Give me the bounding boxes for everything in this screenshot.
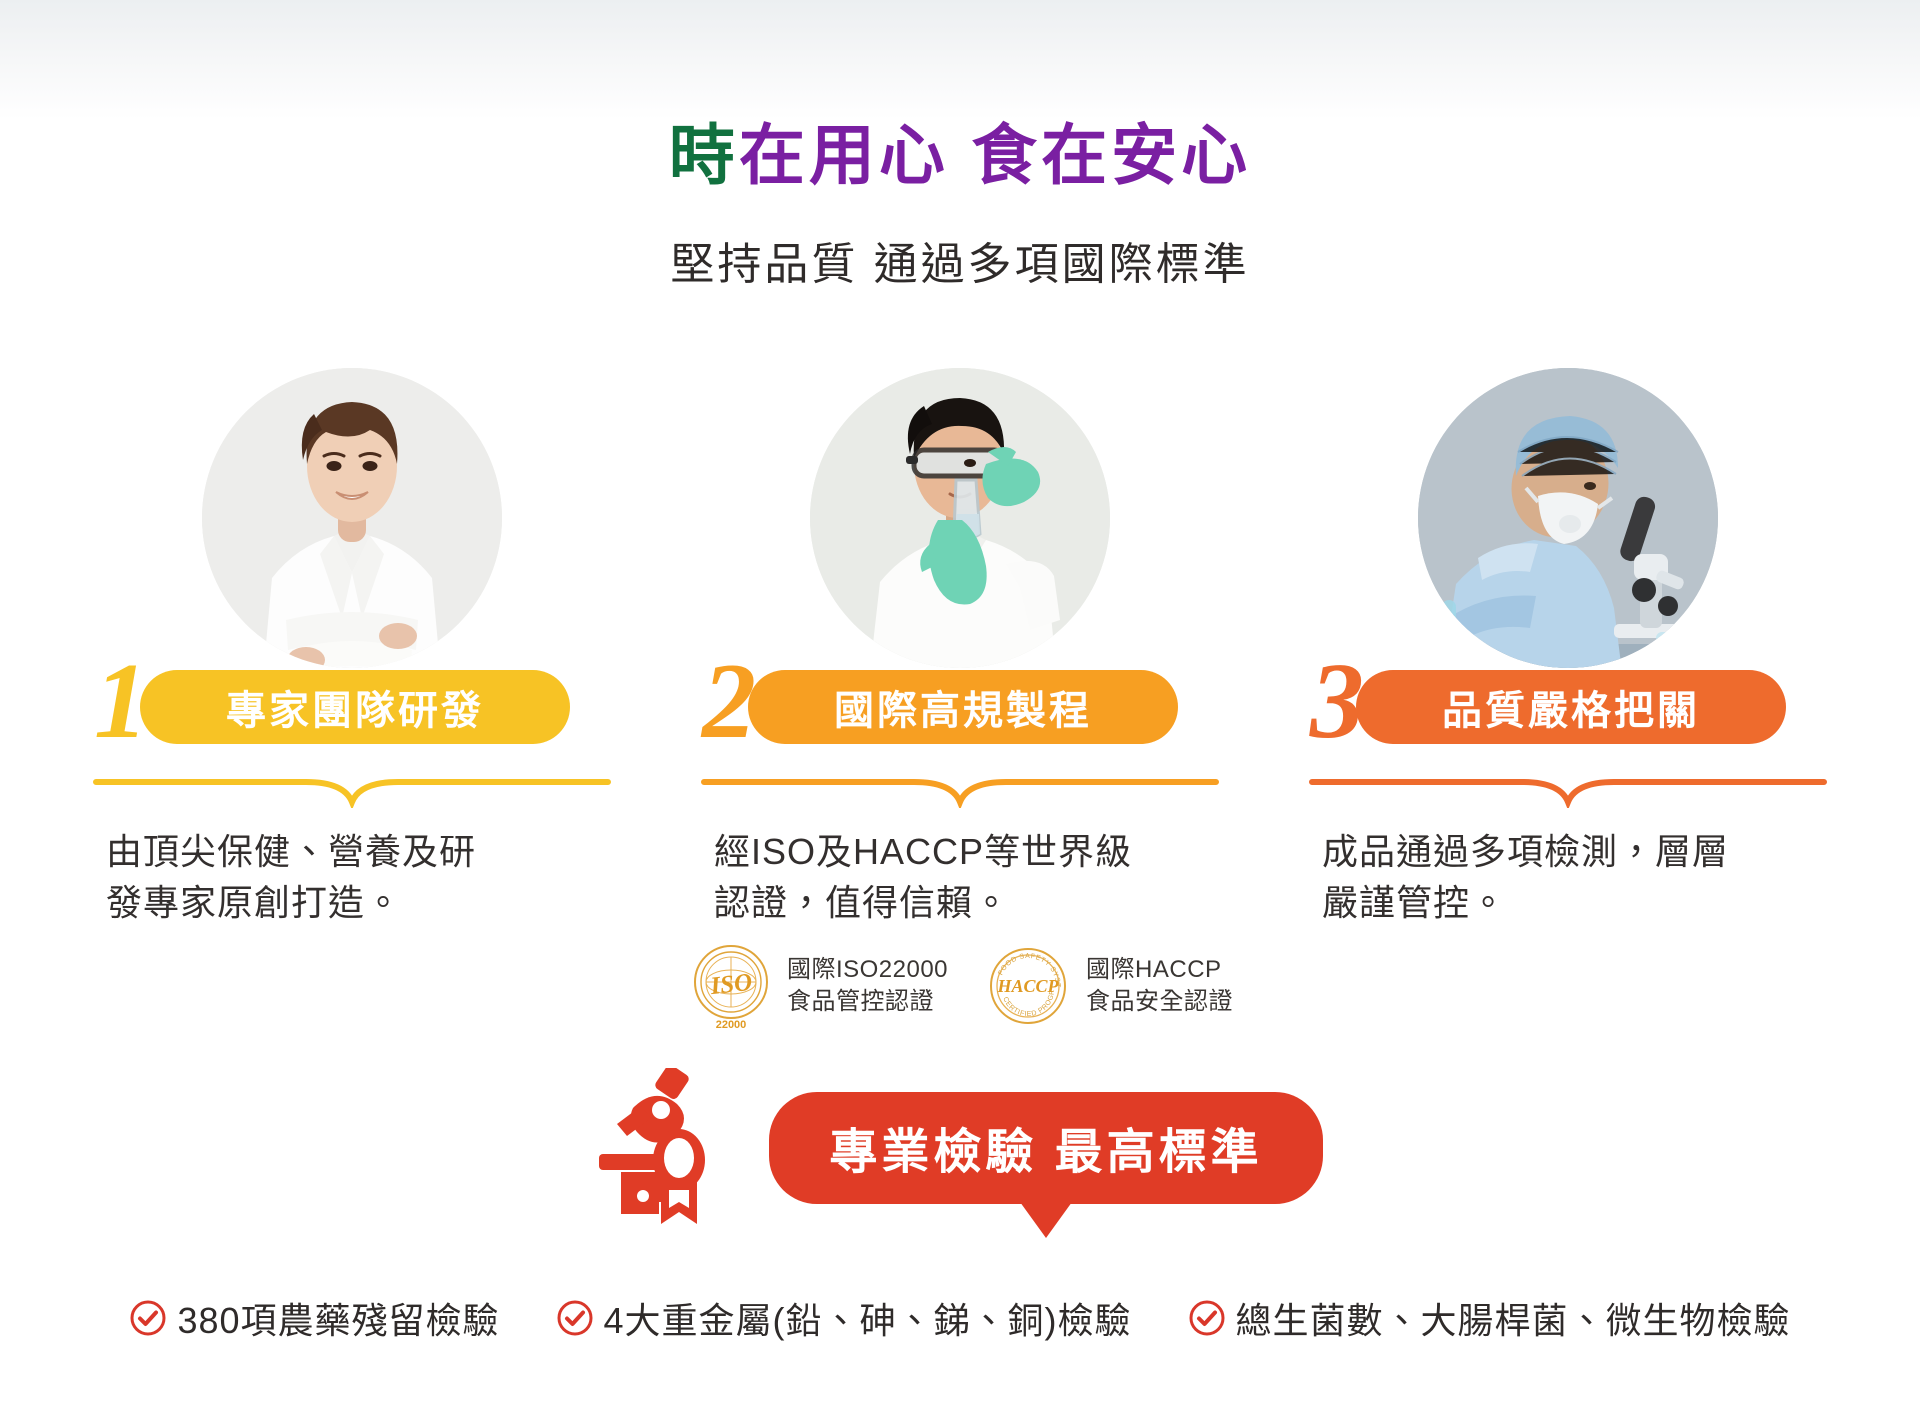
feature-badge-label-1: 專家團隊研發: [140, 670, 570, 744]
iso-seal-icon: ISO 22000: [687, 940, 775, 1032]
check-circle-icon: [129, 1299, 167, 1337]
feature-badge-label-3: 品質嚴格把關: [1356, 670, 1786, 744]
certification-iso22000-text: 國際ISO22000食品管控認證: [787, 954, 948, 1017]
feature-card-3: 3 品質嚴格把關 成品通過多項檢測，層層 嚴謹管控。: [1308, 368, 1828, 928]
banner-bubble-wrap: 專業檢驗 最高標準: [769, 1092, 1322, 1204]
cert-line-2: 食品安全認證: [1086, 988, 1233, 1015]
page-title-segment-purple: 在用心 食在安心: [739, 118, 1251, 192]
svg-text:ISO: ISO: [708, 969, 753, 1000]
cert-line-2: 食品管控認證: [787, 988, 934, 1015]
microscope-technician-photo-illustration: [1418, 368, 1718, 688]
feature-divider-1: [92, 774, 612, 808]
feature-badge-2: 2 國際高規製程: [700, 666, 1220, 756]
certification-badges: ISO 22000 國際ISO22000食品管控認證 FOOD SAFETY S…: [0, 940, 1920, 1032]
feature-badge-1: 1 專家團隊研發: [92, 666, 612, 756]
haccp-seal-icon: FOOD SAFETY SYSTEM CERTIFIED PROGRAM HAC…: [982, 940, 1074, 1032]
banner-label: 專業檢驗 最高標準: [769, 1092, 1322, 1204]
certification-haccp: FOOD SAFETY SYSTEM CERTIFIED PROGRAM HAC…: [982, 940, 1233, 1032]
feature-badge-3: 3 品質嚴格把關: [1308, 666, 1828, 756]
feature-badge-label-2: 國際高規製程: [748, 670, 1178, 744]
feature-divider-2: [700, 774, 1220, 808]
test-item-3: 總生菌數、大腸桿菌、微生物檢驗: [1188, 1292, 1791, 1344]
feature-description-3: 成品通過多項檢測，層層 嚴謹管控。: [1308, 826, 1828, 928]
test-item-label-1: 380項農藥殘留檢驗: [177, 1292, 499, 1344]
researcher-photo-illustration: [202, 368, 502, 688]
page-header: 時在用心 食在安心 堅持品質 通過多項國際標準: [0, 118, 1920, 292]
svg-text:HACCP: HACCP: [997, 976, 1060, 996]
banner-tail: [1020, 1202, 1072, 1238]
check-circle-icon: [1188, 1299, 1226, 1337]
feature-columns: 1 專家團隊研發 由頂尖保健、營養及研 發專家原創打造。: [0, 368, 1920, 928]
cert-line-1: 國際HACCP: [1086, 956, 1222, 983]
svg-text:22000: 22000: [716, 1019, 747, 1031]
feature-divider-3: [1308, 774, 1828, 808]
feature-photo-1: [92, 368, 612, 688]
check-circle-icon: [556, 1299, 594, 1337]
certification-iso22000: ISO 22000 國際ISO22000食品管控認證: [687, 940, 948, 1032]
page-title-segment-green: 時: [669, 118, 739, 192]
test-items-list: 380項農藥殘留檢驗 4大重金屬(鉛、砷、銻、銅)檢驗 總生菌數、大腸桿菌、微生…: [0, 1292, 1920, 1344]
feature-card-1: 1 專家團隊研發 由頂尖保健、營養及研 發專家原創打造。: [92, 368, 612, 928]
infographic-page: 時在用心 食在安心 堅持品質 通過多項國際標準: [0, 0, 1920, 1420]
test-item-2: 4大重金屬(鉛、砷、銻、銅)檢驗: [556, 1292, 1132, 1344]
microscope-award-icon: [597, 1068, 747, 1228]
page-title: 時在用心 食在安心: [0, 118, 1920, 194]
test-item-label-3: 總生菌數、大腸桿菌、微生物檢驗: [1236, 1292, 1791, 1344]
feature-photo-2: [700, 368, 1220, 688]
top-gradient-wash: [0, 0, 1920, 120]
test-item-1: 380項農藥殘留檢驗: [129, 1292, 499, 1344]
feature-card-2: 2 國際高規製程 經ISO及HACCP等世界級 認證，值得信賴。: [700, 368, 1220, 928]
feature-photo-3: [1308, 368, 1828, 688]
inspection-banner: 專業檢驗 最高標準: [0, 1068, 1920, 1228]
certification-haccp-text: 國際HACCP食品安全認證: [1086, 954, 1233, 1017]
page-subtitle: 堅持品質 通過多項國際標準: [0, 228, 1920, 292]
scientist-photo-illustration: [810, 368, 1110, 688]
feature-description-1: 由頂尖保健、營養及研 發專家原創打造。: [92, 826, 612, 928]
feature-description-2: 經ISO及HACCP等世界級 認證，值得信賴。: [700, 826, 1220, 928]
cert-line-1: 國際ISO22000: [787, 956, 948, 983]
test-item-label-2: 4大重金屬(鉛、砷、銻、銅)檢驗: [604, 1292, 1132, 1344]
